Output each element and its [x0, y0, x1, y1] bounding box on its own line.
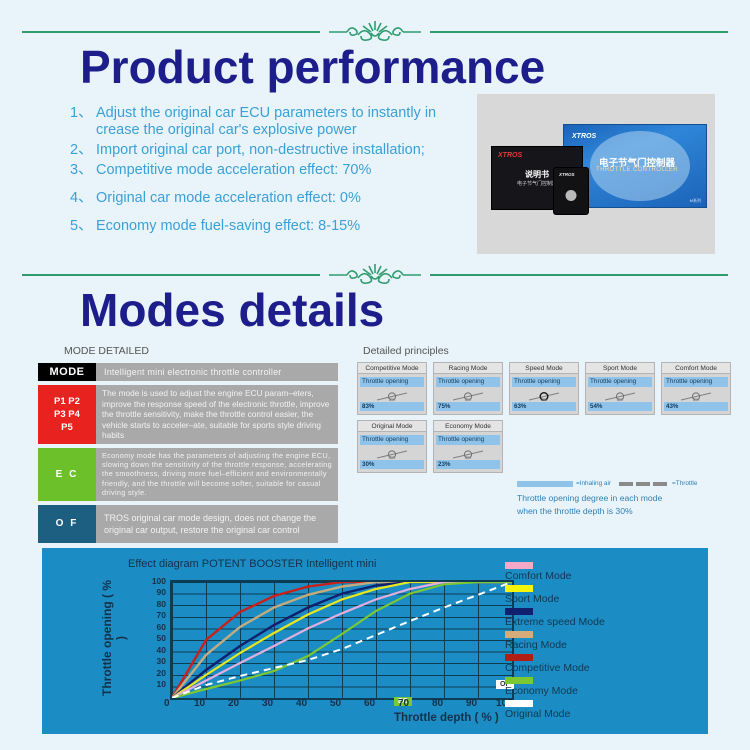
principle-card: Comfort Mode Throttle opening 3% 43% — [661, 362, 731, 415]
y-tick: 70 — [157, 610, 166, 620]
card-title: Sport Mode — [586, 363, 654, 374]
card-body: Throttle opening 3% 63% — [510, 374, 578, 414]
x-tick: 90 — [466, 698, 477, 709]
card-body: Throttle opening 3% 54% — [586, 374, 654, 414]
legend-label-throttle: =Throttle — [672, 480, 697, 487]
card-band-label: Throttle opening — [664, 377, 728, 387]
list-item-text: Competitive mode acceleration effect: 70… — [96, 162, 470, 179]
page-title-modes-details: Modes details — [80, 283, 384, 337]
legend-swatch — [505, 631, 533, 638]
legend-label: Original Mode — [505, 708, 705, 721]
card-band-label: Throttle opening — [436, 377, 500, 387]
chart-x-ticks: 0 10 20 30 40 50 60 70 80 90 100 — [152, 698, 532, 712]
card-title: Comfort Mode — [662, 363, 730, 374]
legend-item: Comfort Mode — [505, 562, 705, 583]
card-band-label: Throttle opening — [588, 377, 652, 387]
card-percent: 23% — [436, 460, 500, 469]
x-tick: 80 — [432, 698, 443, 709]
mode-detail-table: MODE Intelligent mini electronic throttl… — [38, 363, 338, 547]
legend-swatch — [505, 654, 533, 661]
legend-item: Extreme speed Mode — [505, 608, 705, 629]
x-tick: 40 — [296, 698, 307, 709]
card-percent: 43% — [664, 402, 728, 411]
table-row-of-mode: O F TROS original car mode design, does … — [38, 505, 338, 543]
legend-item: Sport Mode — [505, 585, 705, 606]
card-percent: 63% — [512, 402, 576, 411]
label-mode-detailed: MODE DETAILED — [64, 345, 149, 357]
legend-item: Economy Mode — [505, 677, 705, 698]
table-row-p-modes: P1 P2 P3 P4 P5 The mode is used to adjus… — [38, 385, 338, 444]
principle-card: Economy Mode Throttle opening 3% 23% — [433, 420, 503, 473]
card-percent: 75% — [436, 402, 500, 411]
p-line-2: P3 P4 — [54, 408, 80, 421]
principle-legend: =Inhaling air =Throttle Throttle opening… — [517, 480, 732, 517]
mode-key-label-p: P1 P2 P3 P4 P5 — [38, 385, 96, 444]
principle-legend-row: =Inhaling air =Throttle — [517, 480, 732, 487]
x-tick: 30 — [262, 698, 273, 709]
legend-label-air: =Inhaling air — [576, 480, 611, 487]
card-title: Original Mode — [358, 421, 426, 432]
legend-item: Competitive Mode — [505, 654, 705, 675]
principle-card: Sport Mode Throttle opening 3% 54% — [585, 362, 655, 415]
card-percent: 30% — [360, 460, 424, 469]
y-tick: 80 — [157, 599, 166, 609]
mode-value-text: Intelligent mini electronic throttle con… — [96, 363, 338, 381]
mode-value-text: TROS original car mode design, does not … — [96, 505, 338, 543]
card-body: Throttle opening 3% 43% — [662, 374, 730, 414]
list-item: 1、 Adjust the original car ECU parameter… — [70, 105, 470, 139]
card-band-label: Throttle opening — [436, 435, 500, 445]
list-item-text: Economy mode fuel-saving effect: 8-15% — [96, 218, 470, 235]
legend-swatch — [505, 677, 533, 684]
legend-swatch — [505, 562, 533, 569]
principle-card: Competitive Mode Throttle opening 3% 83% — [357, 362, 427, 415]
principle-card: Speed Mode Throttle opening 3% 63% — [509, 362, 579, 415]
principle-card: Racing Mode Throttle opening 3% 75% — [433, 362, 503, 415]
card-title: Competitive Mode — [358, 363, 426, 374]
list-item: 4、 Original car mode acceleration effect… — [70, 190, 470, 207]
section-divider-modes — [22, 265, 728, 285]
x-tick: 70 — [398, 698, 409, 709]
legend-label: Extreme speed Mode — [505, 616, 705, 629]
x-tick: 0 — [164, 698, 170, 709]
page-title-product-performance: Product performance — [80, 40, 545, 94]
y-tick: 40 — [157, 645, 166, 655]
principle-card-row-2: Original Mode Throttle opening 3% 30% Ec… — [357, 420, 731, 473]
mode-key-label: MODE — [38, 363, 96, 381]
list-item-number: 1、 — [70, 105, 96, 139]
legend-label: Competitive Mode — [505, 662, 705, 675]
card-band-label: Throttle opening — [360, 377, 424, 387]
swatch-inhaling-air — [517, 481, 573, 487]
mode-value-text: The mode is used to adjust the engine EC… — [96, 385, 338, 444]
device-brand-logo: XTROS — [559, 172, 575, 177]
card-body: Throttle opening 3% 83% — [358, 374, 426, 414]
principle-note: Throttle opening degree in each mode whe… — [517, 492, 732, 517]
feature-list: 1、 Adjust the original car ECU parameter… — [70, 105, 470, 238]
card-band-label: Throttle opening — [512, 377, 576, 387]
chart-title: Effect diagram POTENT BOOSTER Intelligen… — [128, 558, 376, 570]
y-tick: 30 — [157, 656, 166, 666]
y-tick: 90 — [157, 587, 166, 597]
chart-y-ticks: 100 90 80 70 60 50 40 30 20 10 — [130, 574, 166, 698]
section-divider-top — [22, 22, 728, 42]
list-item-text: Import original car port, non-destructiv… — [96, 142, 470, 159]
manual-brand-logo: XTROS — [498, 152, 522, 159]
chart-legend: Comfort Mode Sport Mode Extreme speed Mo… — [505, 562, 705, 723]
mode-key-label-of: O F — [38, 505, 96, 543]
x-tick: 20 — [228, 698, 239, 709]
table-row-ec-mode: E C Economy mode has the parameters of a… — [38, 448, 338, 501]
list-item-text: Original car mode acceleration effect: 0… — [96, 190, 470, 207]
principle-note-line-1: Throttle opening degree in each mode — [517, 492, 732, 505]
legend-swatch — [505, 585, 533, 592]
box-title-en: THROTTLE CONTROLLER — [582, 167, 692, 173]
list-item-number: 3、 — [70, 162, 96, 179]
legend-label: Racing Mode — [505, 639, 705, 652]
card-percent: 83% — [360, 402, 424, 411]
legend-label: Economy Mode — [505, 685, 705, 698]
card-title: Speed Mode — [510, 363, 578, 374]
chart-plot-area: EC OF — [170, 580, 514, 700]
mode-key-label-ec: E C — [38, 448, 96, 501]
card-body: Throttle opening 3% 23% — [434, 432, 502, 472]
chart-curves — [172, 582, 512, 698]
y-tick: 60 — [157, 622, 166, 632]
card-percent: 54% — [588, 402, 652, 411]
y-tick: 10 — [157, 679, 166, 689]
chart-y-axis-label: Throttle opening ( % ) — [100, 578, 118, 698]
legend-item: Original Mode — [505, 700, 705, 721]
principle-note-line-2: when the throttle depth is 30% — [517, 505, 732, 518]
x-tick: 50 — [330, 698, 341, 709]
legend-item: Racing Mode — [505, 631, 705, 652]
legend-swatch — [505, 700, 533, 707]
p-line-1: P1 P2 — [54, 395, 80, 408]
card-body: Throttle opening 3% 30% — [358, 432, 426, 472]
card-title: Economy Mode — [434, 421, 502, 432]
box-brand-logo: XTROS — [572, 133, 596, 140]
y-tick: 20 — [157, 668, 166, 678]
chart-x-axis-label: Throttle depth ( % ) — [394, 712, 499, 724]
product-device: XTROS — [553, 167, 589, 215]
card-body: Throttle opening 3% 75% — [434, 374, 502, 414]
list-item: 3、 Competitive mode acceleration effect:… — [70, 162, 470, 179]
list-item-number: 5、 — [70, 218, 96, 235]
list-item: 5、 Economy mode fuel-saving effect: 8-15… — [70, 218, 470, 235]
legend-swatch — [505, 608, 533, 615]
principle-cards: Competitive Mode Throttle opening 3% 83%… — [357, 362, 731, 478]
device-button-icon — [566, 190, 577, 201]
x-tick: 10 — [194, 698, 205, 709]
product-photo: XTROS 电子节气门控制器 THROTTLE CONTROLLER M系列 X… — [477, 94, 715, 254]
list-item-number: 2、 — [70, 142, 96, 159]
list-item: 2、 Import original car port, non-destruc… — [70, 142, 470, 159]
y-tick: 50 — [157, 633, 166, 643]
infographic-page: Product performance 1、 Adjust the origin… — [0, 0, 750, 750]
p-line-3: P5 — [54, 421, 80, 434]
box-code: M系列 — [690, 198, 701, 204]
x-tick: 60 — [364, 698, 375, 709]
list-item-text: Adjust the original car ECU parameters t… — [96, 105, 470, 139]
label-detailed-principles: Detailed principles — [363, 345, 449, 357]
mode-value-text: Economy mode has the parameters of adjus… — [96, 448, 338, 501]
legend-label: Comfort Mode — [505, 570, 705, 583]
principle-card: Original Mode Throttle opening 3% 30% — [357, 420, 427, 473]
card-title: Racing Mode — [434, 363, 502, 374]
table-row-mode-header: MODE Intelligent mini electronic throttl… — [38, 363, 338, 381]
list-item-number: 4、 — [70, 190, 96, 207]
swatch-throttle — [619, 482, 669, 486]
legend-label: Sport Mode — [505, 593, 705, 606]
principle-card-row-1: Competitive Mode Throttle opening 3% 83%… — [357, 362, 731, 415]
y-tick: 100 — [152, 576, 166, 586]
card-band-label: Throttle opening — [360, 435, 424, 445]
